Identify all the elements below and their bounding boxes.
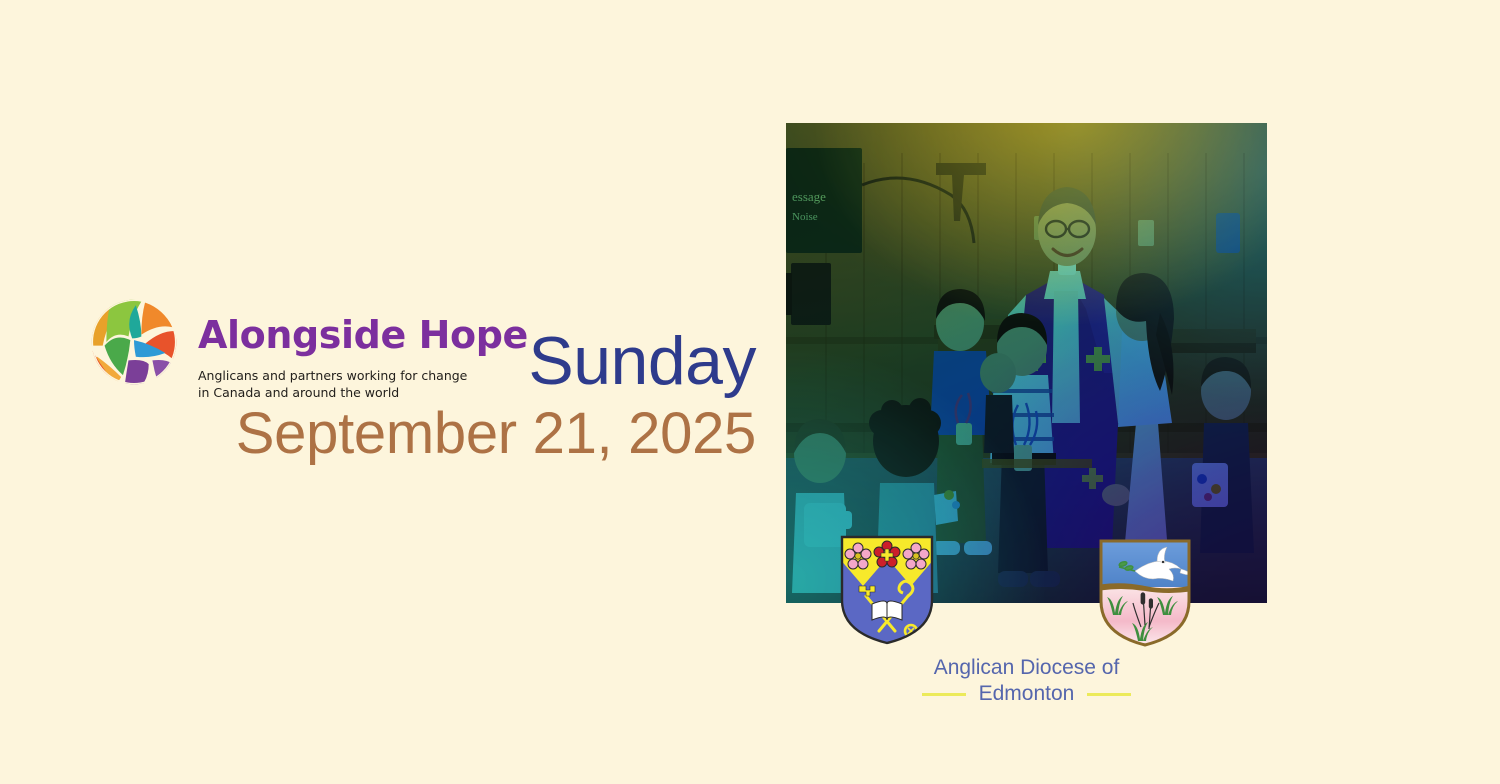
headline-day: Sunday [0, 326, 756, 397]
diocese-caption-line-2-row: Edmonton [786, 681, 1267, 707]
diocese-caption-line-2: Edmonton [979, 681, 1075, 707]
newsletter-banner: Alongside Hope Anglicans and partners wo… [0, 0, 1500, 784]
headline-block: Sunday September 21, 2025 [0, 326, 756, 464]
caption-rule-left [922, 693, 966, 696]
diocese-caption: Anglican Diocese of Edmonton [786, 655, 1267, 708]
shield-dove-icon [1097, 537, 1193, 649]
headline-date: September 21, 2025 [0, 403, 756, 464]
diocese-caption-line-1: Anglican Diocese of [786, 655, 1267, 681]
anglican-diocese-of-edmonton-logo[interactable]: Anglican Diocese of Edmonton [786, 530, 1267, 710]
caption-rule-right [1087, 693, 1131, 696]
shield-edmonton-icon [839, 534, 935, 646]
left-content-block: Alongside Hope Anglicans and partners wo… [0, 0, 786, 784]
